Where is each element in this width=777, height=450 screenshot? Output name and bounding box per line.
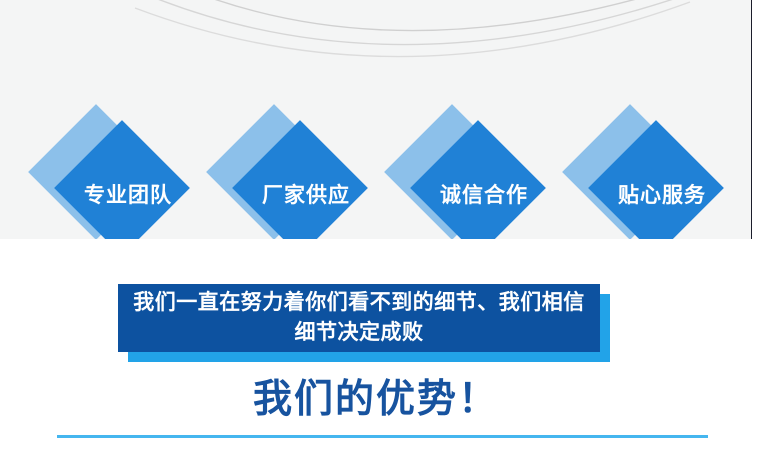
feature-item-0[interactable]: 专业团队 <box>26 104 210 239</box>
advantages-section: 我们一直在努力着你们看不到的细节、我们相信 细节决定成败 我们的优势！ <box>0 239 777 450</box>
page-title: 我们的优势！ <box>0 368 752 424</box>
panel-right-margin <box>753 0 777 239</box>
feature-label-2: 诚信合作 <box>382 104 566 239</box>
promo-page: 专业团队 厂家供应 诚信合作 贴心服务 我们一 <box>0 0 777 450</box>
feature-label-3: 贴心服务 <box>560 104 744 239</box>
feature-item-3[interactable]: 贴心服务 <box>560 104 744 239</box>
feature-label-0: 专业团队 <box>26 104 210 239</box>
features-panel: 专业团队 厂家供应 诚信合作 贴心服务 <box>0 0 752 239</box>
slogan-line-2: 细节决定成败 <box>295 318 424 348</box>
slogan-banner: 我们一直在努力着你们看不到的细节、我们相信 细节决定成败 <box>118 284 610 362</box>
feature-diamond-row: 专业团队 厂家供应 诚信合作 贴心服务 <box>0 104 752 239</box>
feature-item-1[interactable]: 厂家供应 <box>204 104 388 239</box>
feature-item-2[interactable]: 诚信合作 <box>382 104 566 239</box>
slogan-line-1: 我们一直在努力着你们看不到的细节、我们相信 <box>133 288 585 318</box>
decorative-arcs <box>0 0 752 100</box>
slogan-banner-box: 我们一直在努力着你们看不到的细节、我们相信 细节决定成败 <box>118 284 600 352</box>
feature-label-1: 厂家供应 <box>204 104 388 239</box>
section-divider <box>57 435 708 438</box>
